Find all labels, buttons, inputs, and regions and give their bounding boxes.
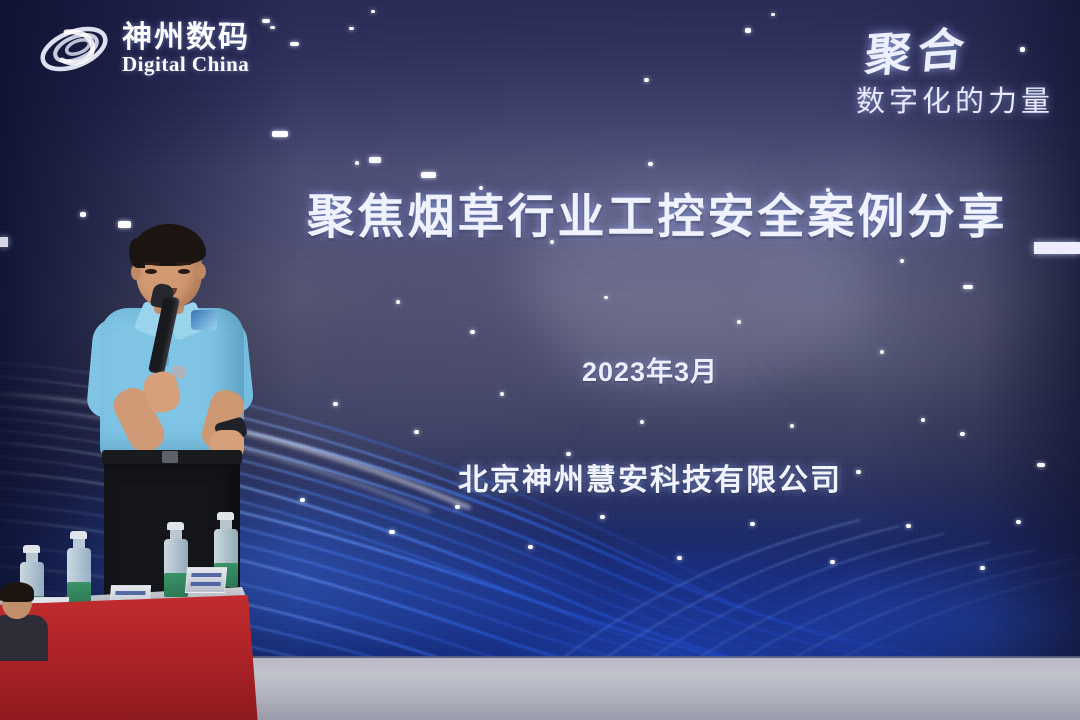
light-particle	[900, 259, 904, 263]
light-particle	[389, 530, 395, 534]
slide-title: 聚焦烟草行业工控安全案例分享	[300, 178, 1015, 247]
bottle-neck	[73, 539, 85, 548]
light-particle	[604, 296, 608, 299]
bottle-neck	[220, 520, 232, 529]
light-particle	[1037, 463, 1045, 467]
light-particle	[80, 212, 86, 217]
presenter-eye-left	[145, 269, 157, 274]
light-particle	[333, 402, 338, 406]
light-particle	[600, 515, 605, 519]
light-particle	[644, 78, 649, 82]
bottle-body-wrap	[67, 548, 91, 606]
light-particle	[921, 418, 925, 422]
event-subhead-cn: 数字化的力量	[856, 78, 1054, 120]
light-particle	[880, 350, 884, 354]
bottle-cap	[70, 531, 87, 539]
bottle-cap	[23, 545, 40, 553]
screen-edge-light-bar	[1034, 242, 1080, 254]
light-particle	[648, 162, 653, 166]
light-particle	[1016, 520, 1021, 524]
digital-china-wordmark: 神州数码 Digital China	[122, 23, 250, 75]
water-bottle	[164, 522, 188, 597]
digital-china-logo: 神州数码 Digital China	[36, 18, 250, 80]
light-particle	[830, 560, 835, 564]
light-particle	[369, 157, 381, 163]
event-headline-cn: 聚合	[863, 12, 974, 85]
water-bottle	[67, 531, 91, 606]
seated-attendee	[0, 585, 50, 655]
brand-name-cn: 神州数码	[122, 23, 250, 54]
light-particle	[960, 432, 965, 436]
light-particle	[771, 13, 775, 16]
screen-edge-light-bar-left	[0, 237, 8, 247]
light-particle	[790, 424, 794, 428]
light-particle	[455, 505, 460, 509]
light-particle	[371, 10, 375, 13]
light-particle	[355, 161, 359, 165]
conference-stage-photo: 神州数码 Digital China 聚合 数字化的力量 聚焦烟草行业工控安全案…	[0, 0, 1080, 720]
light-particle	[745, 28, 751, 33]
light-particle	[262, 19, 270, 23]
presenter-brow-right	[176, 262, 191, 265]
slide-date: 2023年3月	[430, 350, 870, 389]
light-particle	[750, 522, 755, 526]
light-particle	[677, 556, 682, 560]
light-particle	[470, 330, 475, 334]
presenter-chest-logo	[191, 310, 217, 330]
bottle-cap	[167, 522, 184, 530]
presenter-ear-right	[197, 264, 206, 279]
brand-name-en: Digital China	[122, 54, 250, 75]
light-particle	[528, 545, 533, 549]
bottle-label	[164, 573, 188, 597]
light-particle	[414, 430, 419, 434]
light-particle	[906, 524, 911, 528]
seated-attendee-hair	[0, 582, 34, 602]
presenter-sideburn	[129, 238, 145, 268]
presenter-eye-right	[178, 269, 190, 274]
light-particle	[270, 26, 275, 29]
light-particle	[980, 566, 985, 570]
light-particle	[640, 420, 644, 424]
light-particle	[963, 285, 973, 289]
bottle-neck	[170, 530, 182, 539]
bottle-neck	[26, 553, 38, 562]
seated-attendee-body	[0, 615, 48, 661]
bottle-cap	[217, 512, 234, 520]
light-particle	[300, 498, 305, 502]
swirl-spiral-icon	[36, 18, 112, 80]
light-particle	[290, 42, 299, 46]
light-particle	[500, 392, 504, 396]
event-slogan-logo: 聚合 数字化的力量	[856, 16, 1054, 120]
light-particle	[349, 27, 354, 30]
presenter-belt-buckle	[162, 451, 178, 463]
light-particle	[737, 320, 741, 324]
light-particle	[396, 300, 400, 304]
slide-company-name: 北京神州慧安科技有限公司	[400, 455, 900, 499]
light-particle	[272, 131, 288, 137]
presenter-brow-left	[144, 262, 159, 265]
name-card	[185, 567, 227, 593]
